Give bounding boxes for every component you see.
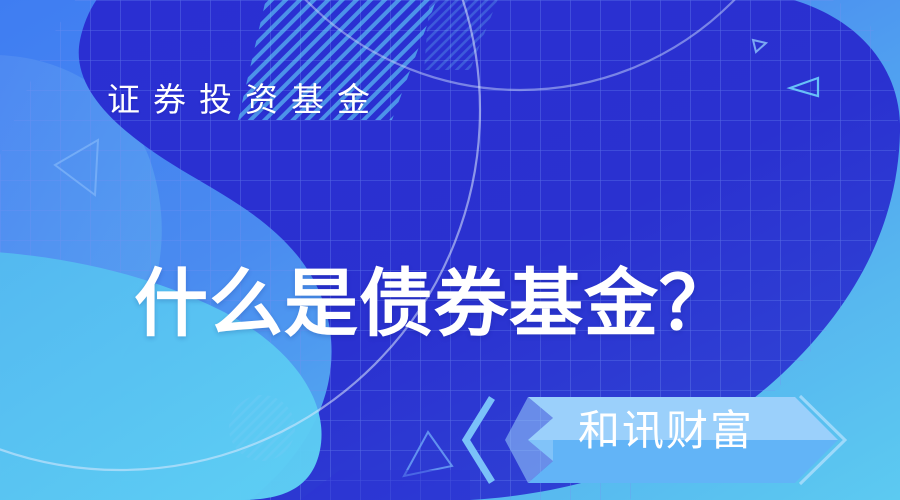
poster-headline: 什么是债券基金？	[134, 258, 734, 350]
brand-name-label: 和讯财富	[578, 405, 754, 457]
poster-canvas: 证券投资基金 什么是债券基金？ 和讯财富	[0, 0, 900, 500]
text-layer: 证券投资基金 什么是债券基金？ 和讯财富	[0, 0, 900, 500]
poster-subtitle: 证券投资基金	[107, 78, 383, 122]
